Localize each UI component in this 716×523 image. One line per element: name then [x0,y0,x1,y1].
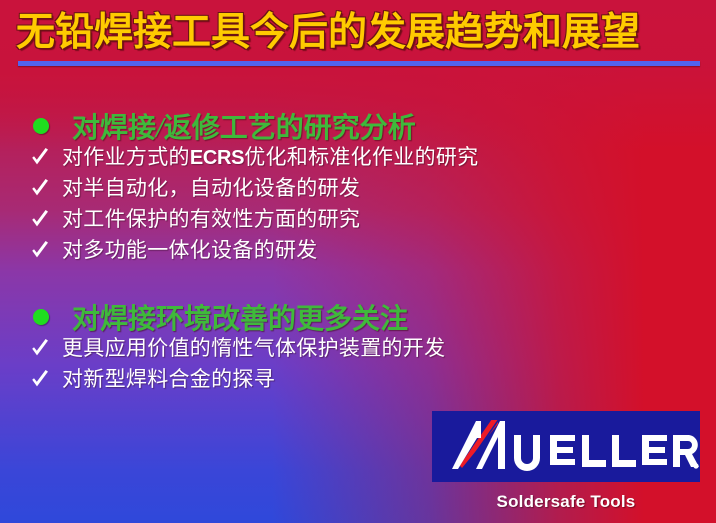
check-icon [30,240,50,262]
list-item: 更具应用价值的惰性气体保护装置的开发 [0,335,716,366]
section-spacer [0,268,716,299]
list-item-label: 对半自动化，自动化设备的研发 [62,174,360,203]
emphasis-ecrs: ECRS [190,147,244,169]
list-item: 对半自动化，自动化设备的研发 [0,175,716,206]
check-icon [30,338,50,360]
check-icon [30,147,50,169]
section-welding-environment: 对焊接环境改善的更多关注 更具应用价值的惰性气体保护装置的开发 对新型焊料合金的… [0,299,716,397]
list-item: 对工件保护的有效性方面的研究 [0,206,716,237]
section-item-list: 更具应用价值的惰性气体保护装置的开发 对新型焊料合金的探寻 [0,335,716,397]
brand-logo-block: Soldersafe Tools [432,411,700,512]
slide-canvas: 无铅焊接工具今后的发展趋势和展望 对焊接/返修工艺的研究分析 对作业方式的ECR… [0,0,716,523]
list-item: 对作业方式的ECRS优化和标准化作业的研究 [0,144,716,175]
list-item: 对新型焊料合金的探寻 [0,366,716,397]
check-icon [30,369,50,391]
list-item-label: 对多功能一体化设备的研发 [62,236,318,265]
green-dot-icon [33,118,49,134]
section-research-analysis: 对焊接/返修工艺的研究分析 对作业方式的ECRS优化和标准化作业的研究 对半自动… [0,108,716,268]
section-heading-row: 对焊接/返修工艺的研究分析 [0,108,716,144]
mueller-wordmark-icon [432,411,700,482]
mueller-logo-box [432,411,700,482]
section-heading-text: 对焊接环境改善的更多关注 [72,297,408,337]
check-icon [30,178,50,200]
heading-slash: / [156,113,164,144]
section-item-list: 对作业方式的ECRS优化和标准化作业的研究 对半自动化，自动化设备的研发 对工件… [0,144,716,268]
list-item-label: 更具应用价值的惰性气体保护装置的开发 [62,334,445,363]
slide-title: 无铅焊接工具今后的发展趋势和展望 [16,8,706,60]
list-item: 对多功能一体化设备的研发 [0,237,716,268]
logo-tagline: Soldersafe Tools [432,492,700,512]
slide-body: 对焊接/返修工艺的研究分析 对作业方式的ECRS优化和标准化作业的研究 对半自动… [0,108,716,397]
green-dot-icon [33,309,49,325]
list-item-label: 对工件保护的有效性方面的研究 [62,205,360,234]
title-divider-rule [18,61,700,66]
section-heading-text: 对焊接/返修工艺的研究分析 [72,106,416,146]
list-item-label: 对作业方式的ECRS优化和标准化作业的研究 [62,143,479,173]
check-icon [30,209,50,231]
list-item-label: 对新型焊料合金的探寻 [62,365,275,394]
section-heading-row: 对焊接环境改善的更多关注 [0,299,716,335]
